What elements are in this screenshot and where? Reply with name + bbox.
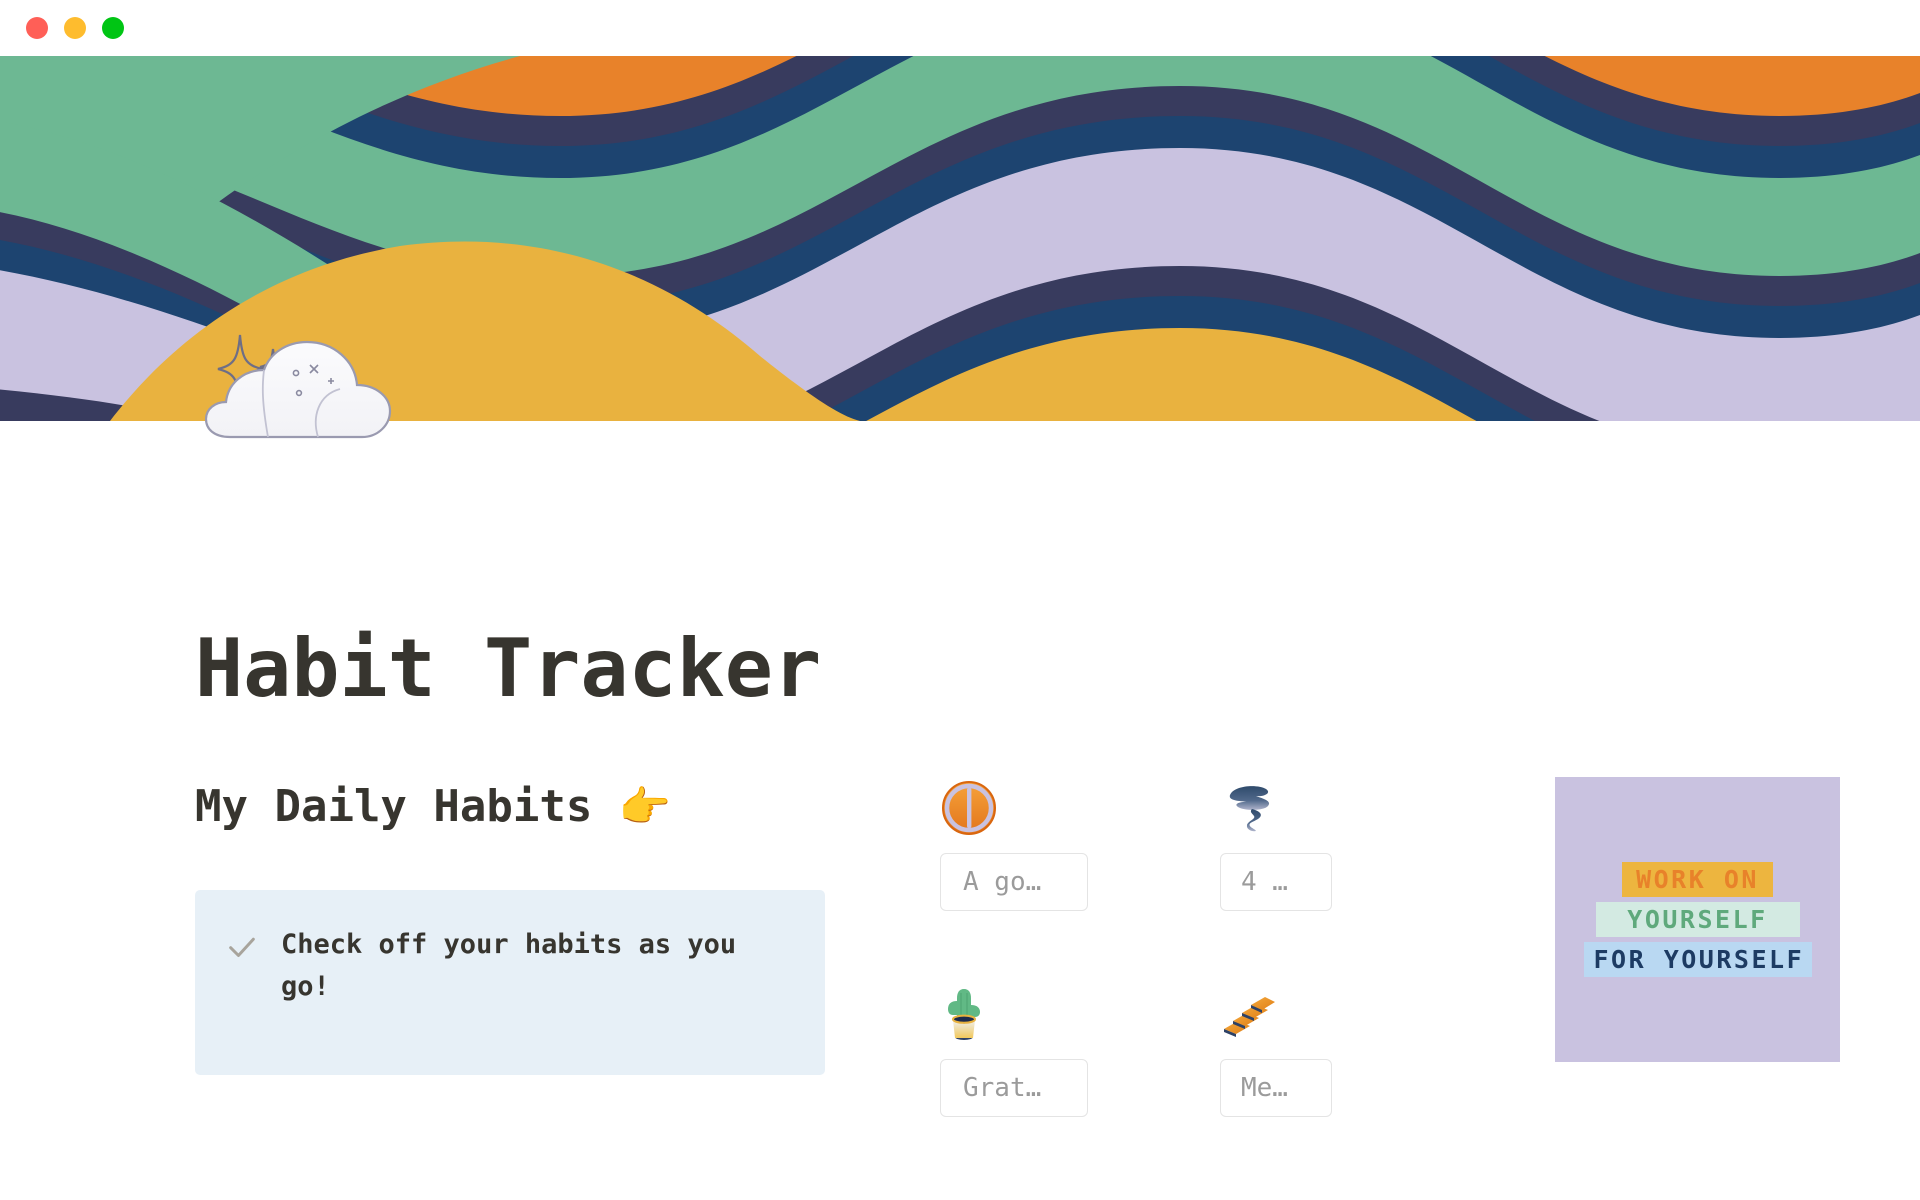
column-right: WORK ON YOURSELF FOR YOURSELF — [1395, 777, 1840, 1062]
work-on-yourself-poster[interactable]: WORK ON YOURSELF FOR YOURSELF — [1555, 777, 1840, 1062]
column-middle: A go… — [835, 777, 1395, 1117]
page-content: Habit Tracker My Daily Habits 👉 Check of… — [0, 421, 1920, 1200]
cloud-with-sparkles-icon — [200, 325, 460, 445]
section-heading-text: My Daily Habits — [195, 781, 592, 832]
minimize-button[interactable] — [64, 17, 86, 39]
callout-block[interactable]: Check off your habits as you go! — [195, 890, 825, 1075]
page-title[interactable]: Habit Tracker — [195, 623, 1835, 715]
maximize-button[interactable] — [102, 17, 124, 39]
habit-name-input[interactable]: 4 … — [1220, 853, 1332, 911]
callout-text: Check off your habits as you go! — [281, 924, 771, 1008]
window-titlebar — [0, 0, 1920, 56]
traffic-lights — [26, 17, 124, 39]
close-button[interactable] — [26, 17, 48, 39]
pointing-right-icon: 👉 — [619, 782, 671, 831]
poster-line-3: FOR YOURSELF — [1584, 942, 1812, 977]
section-heading[interactable]: My Daily Habits 👉 — [195, 777, 725, 838]
habit-name-input[interactable]: Grat… — [940, 1059, 1088, 1117]
poster-line-1: WORK ON — [1622, 862, 1773, 897]
habit-grid: A go… — [940, 777, 1395, 1117]
column-left: My Daily Habits 👉 Check off your habits … — [195, 777, 835, 1075]
orange-circle-pill-icon — [940, 777, 1158, 839]
document-body: Habit Tracker My Daily Habits 👉 Check of… — [195, 421, 1835, 1117]
habit-name-input[interactable]: Me… — [1220, 1059, 1332, 1117]
habit-card[interactable]: A go… — [940, 777, 1158, 911]
poster-line-2: YOURSELF — [1596, 902, 1800, 937]
habit-card[interactable]: Grat… — [940, 983, 1158, 1117]
app-window: Habit Tracker My Daily Habits 👉 Check of… — [0, 0, 1920, 1200]
habit-name-input[interactable]: A go… — [940, 853, 1088, 911]
three-column-block: My Daily Habits 👉 Check off your habits … — [195, 777, 1835, 1117]
page-icon[interactable] — [200, 325, 460, 445]
cactus-icon — [940, 983, 1158, 1045]
check-icon — [225, 930, 259, 964]
